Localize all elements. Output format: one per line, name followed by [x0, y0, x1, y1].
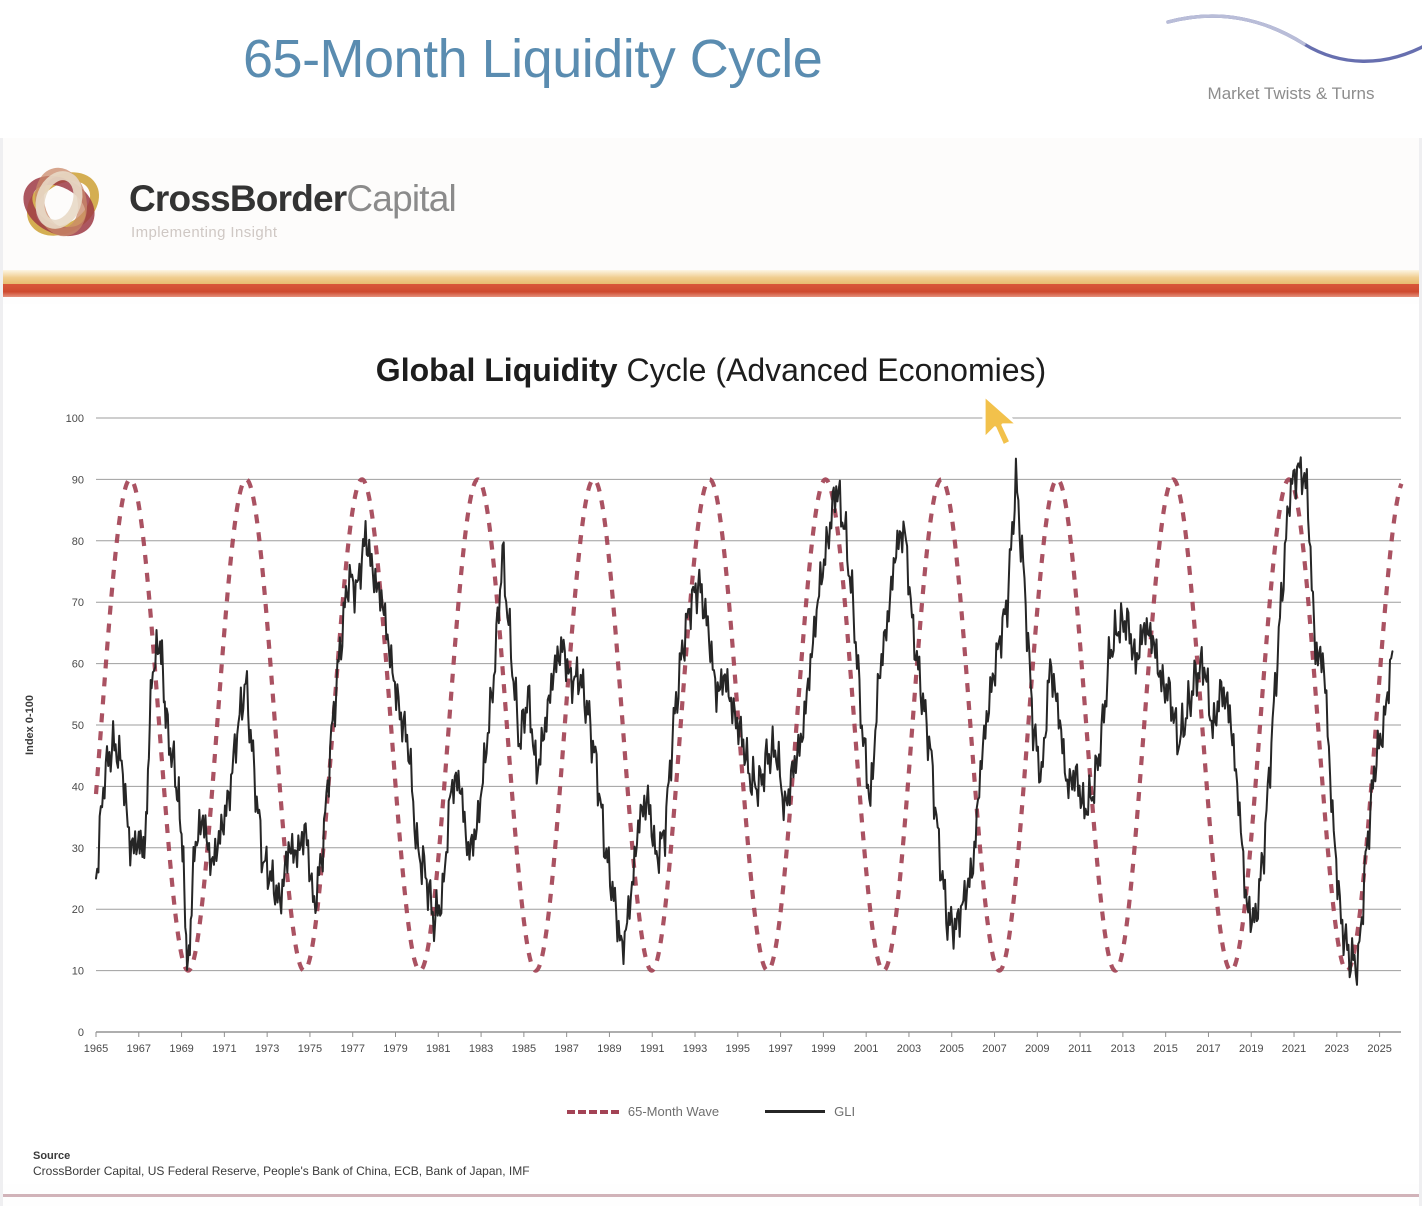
svg-text:2019: 2019 [1239, 1043, 1263, 1055]
slide-header-band: 65-Month Liquidity Cycle Market Twists &… [0, 0, 1422, 138]
market-twists-and-turns-logo: Market Twists & Turns [1162, 2, 1422, 120]
svg-text:1995: 1995 [726, 1043, 750, 1055]
brand-wordmark: CrossBorderCapital [129, 178, 456, 220]
chart-title-rest: Cycle (Advanced Economies) [618, 352, 1047, 388]
source-note: Source CrossBorder Capital, US Federal R… [33, 1150, 933, 1178]
svg-text:2011: 2011 [1068, 1043, 1092, 1055]
source-heading: Source [33, 1150, 933, 1162]
brand-row: CrossBorderCapital Implementing Insight [3, 138, 1419, 270]
svg-text:2003: 2003 [897, 1043, 921, 1055]
svg-text:1965: 1965 [84, 1043, 108, 1055]
svg-text:1979: 1979 [383, 1043, 407, 1055]
wave-icon [1162, 2, 1422, 80]
chart-title: Global Liquidity Cycle (Advanced Economi… [3, 352, 1419, 389]
svg-text:2021: 2021 [1282, 1043, 1306, 1055]
svg-text:2025: 2025 [1367, 1043, 1391, 1055]
brand-tagline: Implementing Insight [131, 224, 277, 241]
brand-name-bold: CrossBorder [129, 178, 346, 219]
presentation-slide: CrossBorderCapital Implementing Insight … [0, 138, 1422, 1206]
svg-text:20: 20 [72, 904, 84, 916]
slide-title: 65-Month Liquidity Cycle [243, 28, 822, 90]
chart-gridlines [96, 418, 1401, 1032]
footer-rule [3, 1194, 1419, 1197]
svg-text:2013: 2013 [1111, 1043, 1135, 1055]
chart-y-tick-labels: 0102030405060708090100 [66, 413, 84, 1039]
svg-text:1969: 1969 [169, 1043, 193, 1055]
svg-text:2009: 2009 [1025, 1043, 1049, 1055]
series-gli [96, 457, 1392, 985]
crossborder-logo-icon [9, 150, 117, 258]
svg-text:1999: 1999 [811, 1043, 835, 1055]
divider-band-red [3, 284, 1419, 297]
svg-text:100: 100 [66, 413, 84, 425]
legend-swatch-dashed-icon [567, 1110, 619, 1114]
svg-text:30: 30 [72, 843, 84, 855]
svg-text:1981: 1981 [426, 1043, 450, 1055]
svg-text:80: 80 [72, 536, 84, 548]
divider-band-gold [3, 270, 1419, 284]
svg-text:1989: 1989 [597, 1043, 621, 1055]
chart-card: Global Liquidity Cycle (Advanced Economi… [3, 304, 1419, 1184]
legend-item-wave[interactable]: 65-Month Wave [567, 1104, 719, 1119]
svg-text:1985: 1985 [512, 1043, 536, 1055]
svg-text:1975: 1975 [298, 1043, 322, 1055]
chart-title-bold: Global Liquidity [376, 352, 618, 388]
svg-text:0: 0 [78, 1027, 84, 1039]
svg-text:1997: 1997 [768, 1043, 792, 1055]
svg-text:2007: 2007 [982, 1043, 1006, 1055]
svg-text:1967: 1967 [127, 1043, 151, 1055]
brand-name-light: Capital [346, 178, 456, 219]
svg-text:2001: 2001 [854, 1043, 878, 1055]
chart-x-tick-labels: 1965196719691971197319751977197919811983… [84, 1032, 1401, 1055]
legend-label-gli: GLI [834, 1104, 855, 1119]
svg-text:2017: 2017 [1196, 1043, 1220, 1055]
svg-text:60: 60 [72, 659, 84, 671]
legend-label-wave: 65-Month Wave [628, 1104, 719, 1119]
source-text: CrossBorder Capital, US Federal Reserve,… [33, 1164, 933, 1178]
chart-y-axis-title: Index 0-100 [24, 695, 36, 755]
liquidity-cycle-chart: 0102030405060708090100 19651967196919711… [3, 400, 1419, 1112]
legend-item-gli[interactable]: GLI [765, 1104, 855, 1119]
svg-text:2023: 2023 [1325, 1043, 1349, 1055]
svg-text:2015: 2015 [1153, 1043, 1177, 1055]
svg-text:70: 70 [72, 597, 84, 609]
svg-text:90: 90 [72, 474, 84, 486]
svg-text:Index 0-100: Index 0-100 [24, 695, 36, 755]
svg-text:1971: 1971 [212, 1043, 236, 1055]
svg-text:1977: 1977 [340, 1043, 364, 1055]
svg-text:50: 50 [72, 720, 84, 732]
svg-text:2005: 2005 [939, 1043, 963, 1055]
chart-legend: 65-Month Wave GLI [3, 1104, 1419, 1119]
svg-text:1973: 1973 [255, 1043, 279, 1055]
svg-text:1991: 1991 [640, 1043, 664, 1055]
svg-text:1987: 1987 [554, 1043, 578, 1055]
svg-text:40: 40 [72, 781, 84, 793]
svg-text:1993: 1993 [683, 1043, 707, 1055]
svg-text:1983: 1983 [469, 1043, 493, 1055]
partner-logo-label: Market Twists & Turns [1162, 84, 1420, 104]
svg-text:10: 10 [72, 966, 84, 978]
legend-swatch-solid-icon [765, 1110, 825, 1113]
